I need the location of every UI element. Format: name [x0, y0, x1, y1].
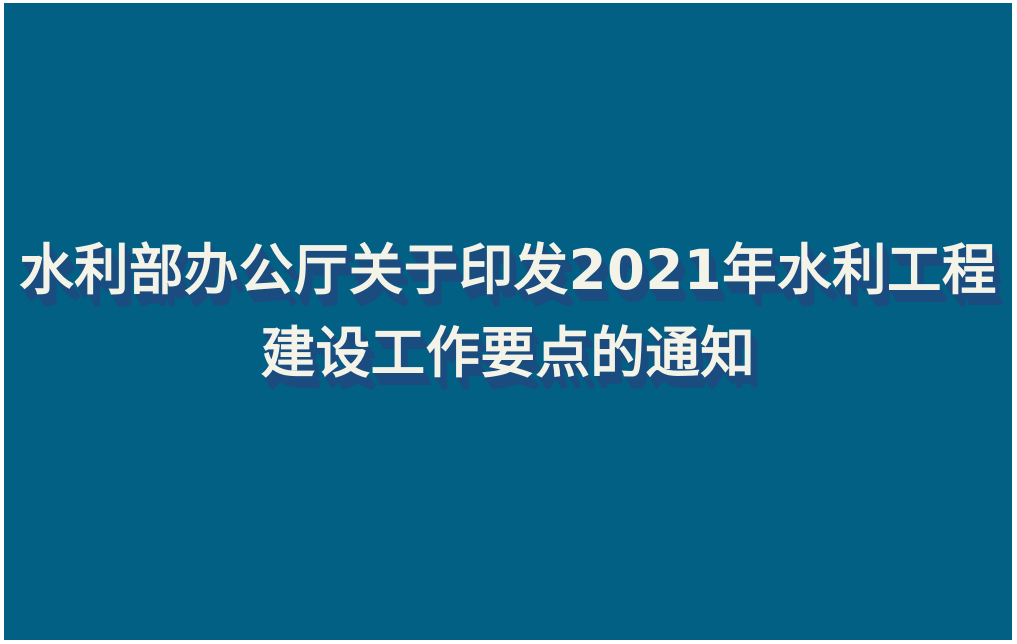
- poster-canvas: 水利部办公厅关于印发2021年水利工程 建设工作要点的通知: [4, 3, 1012, 640]
- title-line-2: 建设工作要点的通知: [9, 326, 1007, 381]
- poster-banner: 水利部办公厅关于印发2021年水利工程 建设工作要点的通知: [0, 0, 1017, 644]
- title-block: 水利部办公厅关于印发2021年水利工程 建设工作要点的通知: [4, 243, 1012, 381]
- title-line-1: 水利部办公厅关于印发2021年水利工程: [9, 243, 1007, 298]
